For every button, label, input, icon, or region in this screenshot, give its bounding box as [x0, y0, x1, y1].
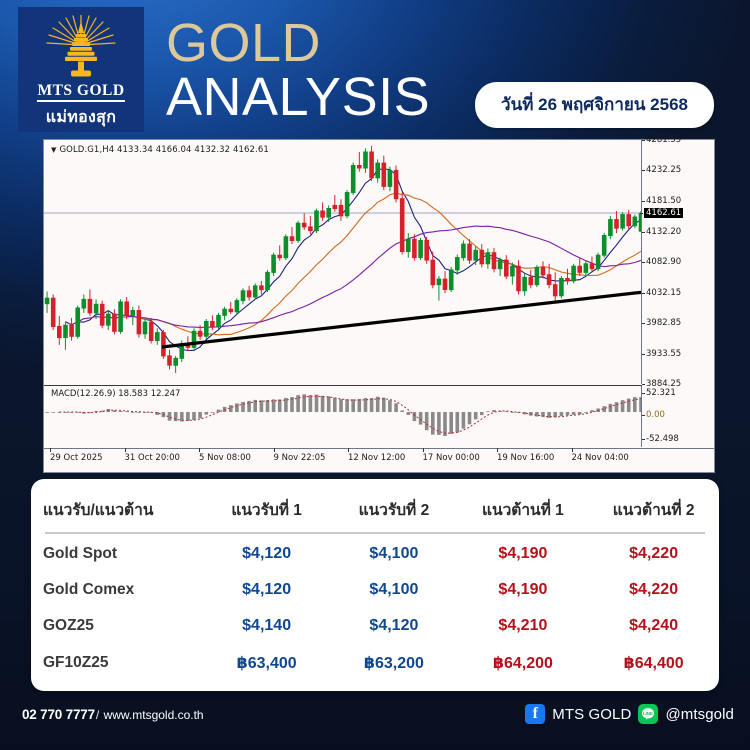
- time-tick: 24 Nov 04:00: [572, 453, 629, 463]
- table-header-row: แนวรับ/แนวต้าน แนวรับที่ 1 แนวรับที่ 2 แ…: [31, 493, 719, 532]
- price-tick: 3982.85: [646, 318, 681, 328]
- cell-resistance-1: $4,190: [458, 572, 589, 608]
- candlestick-plot: [44, 140, 642, 384]
- cell-support-2: ฿63,200: [330, 644, 457, 682]
- table-row: Gold Comex $4,120 $4,100 $4,190 $4,220: [31, 572, 719, 608]
- th-support-1: แนวรับที่ 1: [203, 493, 330, 532]
- row-label: Gold Comex: [31, 572, 203, 608]
- price-tick: 4281.55: [646, 135, 681, 145]
- time-tick: 19 Nov 16:00: [497, 453, 554, 463]
- chevron-down-icon[interactable]: ▼: [51, 146, 56, 154]
- th-support-2: แนวรับที่ 2: [330, 493, 457, 532]
- cell-resistance-2: ฿64,400: [588, 644, 719, 682]
- contact-line: 02 770 7777/ www.mtsgold.co.th: [22, 707, 204, 722]
- price-tick: 4082.90: [646, 257, 681, 267]
- time-tick: 9 Nov 22:05: [274, 453, 326, 463]
- cell-support-1: $4,120: [203, 536, 330, 572]
- cell-resistance-1: $4,210: [458, 608, 589, 644]
- facebook-icon[interactable]: f: [525, 704, 545, 724]
- title-gold: GOLD: [166, 18, 430, 70]
- time-tick: 29 Oct 2025: [50, 453, 103, 463]
- price-tick: 4232.25: [646, 165, 681, 175]
- row-label: Gold Spot: [31, 536, 203, 572]
- website-url[interactable]: www.mtsgold.co.th: [104, 708, 204, 722]
- macd-tick: -52.498: [646, 434, 679, 444]
- price-tick: 4032.15: [646, 288, 681, 298]
- price-tick: 4181.50: [646, 196, 681, 206]
- page-title: GOLD ANALYSIS: [166, 18, 430, 124]
- social-links: f MTS GOLD LINE @mtsgold: [525, 704, 734, 724]
- cell-support-1: ฿63,400: [203, 644, 330, 682]
- logo-text-mts: MTS GOLD: [37, 83, 124, 102]
- gold-pagoda-icon: [35, 15, 127, 81]
- price-tick: 4132.20: [646, 227, 681, 237]
- brand-logo: MTS GOLD แม่ทองสุก: [18, 7, 144, 132]
- cell-support-2: $4,120: [330, 608, 457, 644]
- macd-tick: 52.321: [646, 388, 676, 398]
- price-pane: [44, 140, 642, 384]
- table-row: GOZ25 $4,140 $4,120 $4,210 $4,240: [31, 608, 719, 644]
- cell-resistance-1: ฿64,200: [458, 644, 589, 682]
- cell-support-1: $4,120: [203, 572, 330, 608]
- macd-label: MACD(12.26.9) 18.583 12.247: [51, 389, 180, 399]
- cell-resistance-2: $4,240: [588, 608, 719, 644]
- price-tick: 3933.55: [646, 349, 681, 359]
- time-tick: 17 Nov 00:00: [423, 453, 480, 463]
- price-chart[interactable]: ▼GOLD.G1,H4 4133.34 4166.04 4132.32 4162…: [43, 139, 715, 473]
- facebook-name[interactable]: MTS GOLD: [552, 706, 631, 723]
- line-name[interactable]: @mtsgold: [665, 706, 734, 723]
- footer: 02 770 7777/ www.mtsgold.co.th f MTS GOL…: [0, 691, 750, 750]
- cell-resistance-2: $4,220: [588, 572, 719, 608]
- date-badge: วันที่ 26 พฤศจิกายน 2568: [475, 82, 714, 128]
- logo-text-thai: แม่ทองสุก: [46, 105, 116, 130]
- svg-text:LINE: LINE: [643, 711, 653, 716]
- chart-symbol-label: ▼GOLD.G1,H4 4133.34 4166.04 4132.32 4162…: [51, 145, 269, 155]
- cell-resistance-2: $4,220: [588, 536, 719, 572]
- table-row: GF10Z25 ฿63,400 ฿63,200 ฿64,200 ฿64,400: [31, 644, 719, 682]
- th-resistance-2: แนวต้านที่ 2: [588, 493, 719, 532]
- time-tick: 5 Nov 08:00: [199, 453, 251, 463]
- th-category: แนวรับ/แนวต้าน: [31, 493, 203, 532]
- cell-resistance-1: $4,190: [458, 536, 589, 572]
- support-resistance-table: แนวรับ/แนวต้าน แนวรับที่ 1 แนวรับที่ 2 แ…: [31, 479, 719, 691]
- macd-tick: 0.00: [646, 410, 665, 420]
- title-analysis: ANALYSIS: [166, 72, 430, 124]
- line-icon[interactable]: LINE: [638, 704, 658, 724]
- table-row: Gold Spot $4,120 $4,100 $4,190 $4,220: [31, 536, 719, 572]
- footer-separator: /: [96, 708, 99, 722]
- time-tick: 12 Nov 12:00: [348, 453, 405, 463]
- time-tick: 31 Oct 20:00: [125, 453, 180, 463]
- cell-support-2: $4,100: [330, 572, 457, 608]
- phone-number[interactable]: 02 770 7777: [22, 707, 95, 722]
- price-axis: 4281.554232.254181.504132.204082.904032.…: [642, 140, 714, 448]
- header-divider: [45, 532, 705, 534]
- chart-symbol-text: GOLD.G1,H4 4133.34 4166.04 4132.32 4162.…: [59, 145, 268, 155]
- header: MTS GOLD แม่ทองสุก GOLD ANALYSIS วันที่ …: [0, 0, 750, 133]
- cell-support-1: $4,140: [203, 608, 330, 644]
- row-label: GF10Z25: [31, 644, 203, 682]
- time-axis: 29 Oct 202531 Oct 20:005 Nov 08:009 Nov …: [44, 448, 714, 473]
- cell-support-2: $4,100: [330, 536, 457, 572]
- th-resistance-1: แนวต้านที่ 1: [458, 493, 589, 532]
- macd-pane: MACD(12.26.9) 18.583 12.247: [44, 385, 642, 447]
- poster-root: MTS GOLD แม่ทองสุก GOLD ANALYSIS วันที่ …: [0, 0, 750, 750]
- row-label: GOZ25: [31, 608, 203, 644]
- current-price-tag: 4162.61: [644, 208, 683, 218]
